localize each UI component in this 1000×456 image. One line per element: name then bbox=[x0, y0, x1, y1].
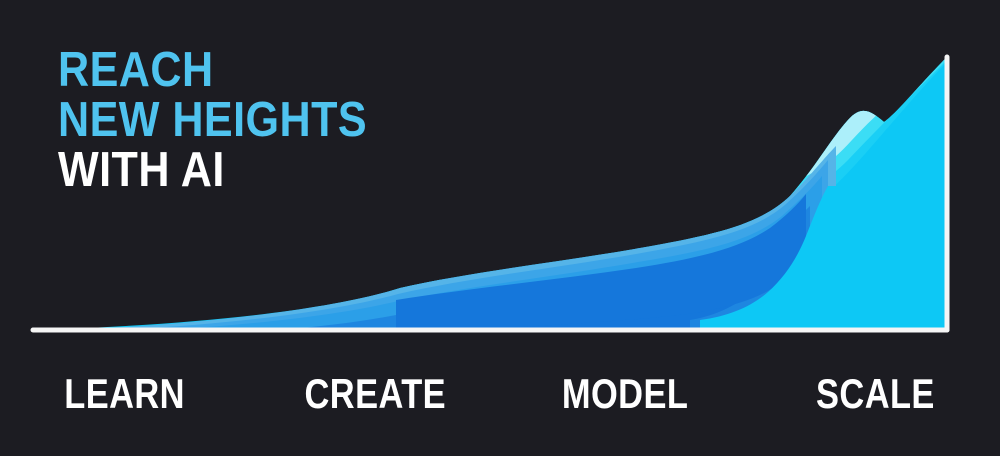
stage-cell-learn: LEARN bbox=[0, 364, 250, 424]
stage-label-create: CREATE bbox=[304, 370, 446, 418]
stage-cell-scale: SCALE bbox=[750, 364, 1000, 424]
headline-line-3: WITH AI bbox=[58, 148, 367, 193]
promo-banner: REACH NEW HEIGHTS WITH AI LEARN CREATE M… bbox=[0, 0, 1000, 456]
stage-label-learn: LEARN bbox=[65, 370, 186, 418]
stage-label-row: LEARN CREATE MODEL SCALE bbox=[0, 364, 1000, 424]
stage-cell-create: CREATE bbox=[250, 364, 500, 424]
stage-cell-model: MODEL bbox=[500, 364, 750, 424]
stage-label-scale: SCALE bbox=[816, 370, 935, 418]
headline-line-1: REACH bbox=[58, 48, 367, 93]
page-title: REACH NEW HEIGHTS WITH AI bbox=[58, 48, 409, 198]
stage-label-model: MODEL bbox=[562, 370, 688, 418]
headline-line-2: NEW HEIGHTS bbox=[58, 98, 367, 143]
